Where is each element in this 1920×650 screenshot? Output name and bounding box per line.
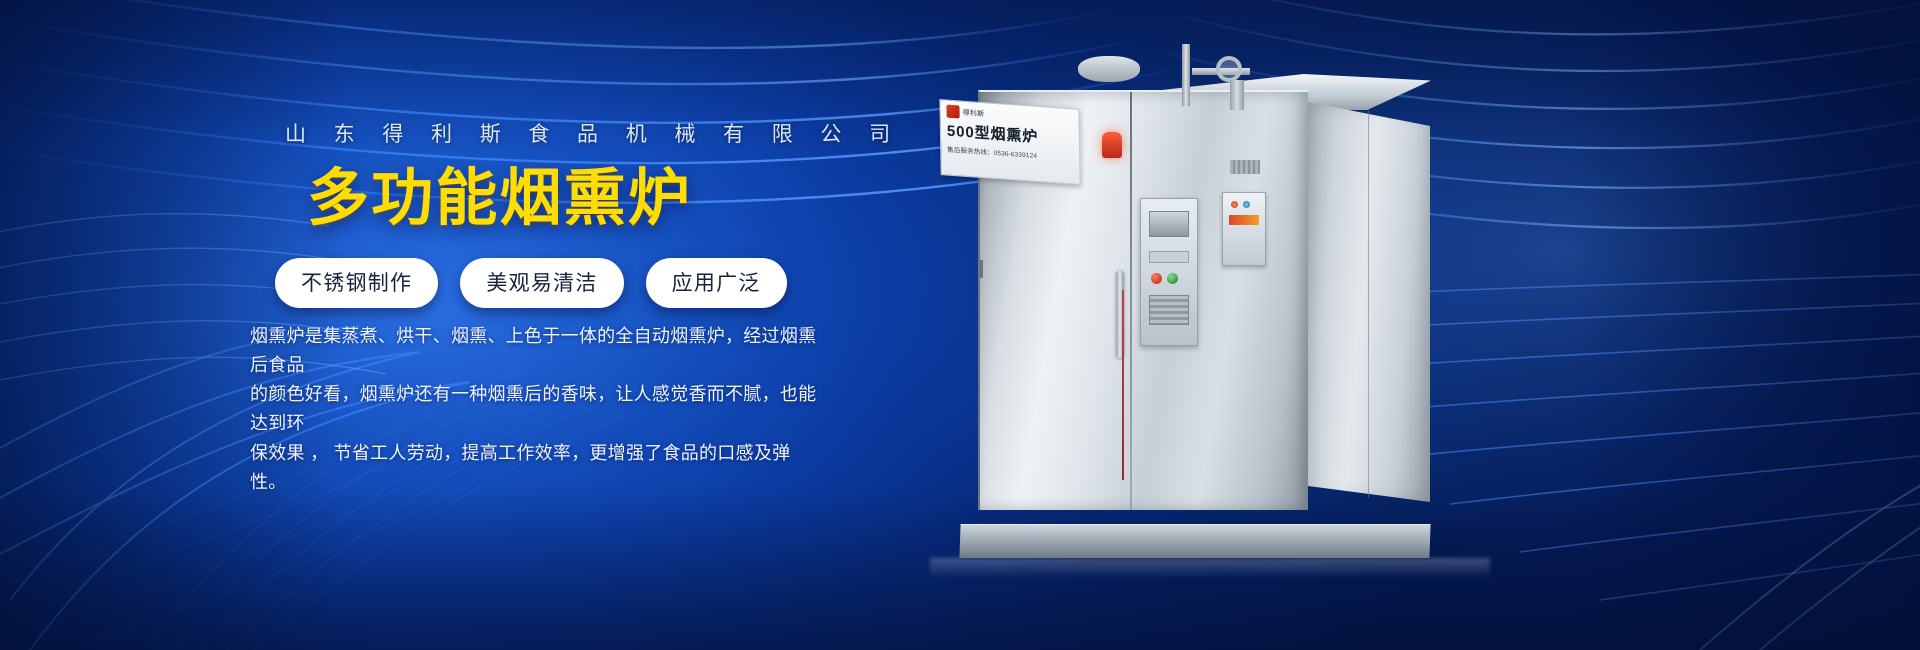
banner-content: 山 东 得 利 斯 食 品 机 械 有 限 公 司 多功能烟熏炉 不锈钢制作 美… (245, 0, 865, 650)
machine-chimney (1078, 56, 1140, 82)
feature-pill-group: 不锈钢制作 美观易清洁 应用广泛 (275, 258, 787, 308)
machine-side-wall (1308, 102, 1430, 502)
control-button-green (1167, 273, 1178, 284)
description-line-1: 烟熏炉是集蒸煮、烘干、烟熏、上色于一体的全自动烟熏炉，经过烟熏后食品 (250, 322, 825, 380)
machine-side-seam (1368, 110, 1369, 498)
panel-led-red (1231, 201, 1238, 208)
panel-warning-sticker (1229, 215, 1259, 225)
brand-name-text: 得利斯 (962, 107, 984, 119)
machine-nameplate: 得利斯 500型烟熏炉 售后服务热线：0536-6339124 (939, 99, 1080, 185)
description-line-2: 的颜色好看，烟熏炉还有一种烟熏后的香味，让人感觉香而不腻，也能达到环 (250, 380, 825, 438)
machine-vent (1230, 160, 1260, 174)
machine-secondary-panel (1222, 192, 1266, 266)
control-button-red (1151, 273, 1162, 284)
feature-pill-stainless[interactable]: 不锈钢制作 (275, 258, 438, 308)
product-photo: 得利斯 500型烟熏炉 售后服务热线：0536-6339124 (930, 40, 1490, 560)
product-description: 烟熏炉是集蒸煮、烘干、烟熏、上色于一体的全自动烟熏炉，经过烟熏后食品 的颜色好看… (250, 322, 825, 497)
machine-valve-wheel (1216, 56, 1242, 82)
machine-door-hinge (980, 260, 983, 278)
machine-pipe-vertical (1182, 44, 1190, 106)
machine-control-panel (1140, 198, 1198, 346)
company-name: 山 东 得 利 斯 食 品 机 械 有 限 公 司 (285, 118, 901, 148)
description-line-3: 保效果 ， 节省工人劳动，提高工作效率，更增强了食品的口感及弹性。 (250, 439, 825, 497)
control-strip (1149, 251, 1189, 263)
control-grill (1149, 295, 1189, 325)
machine-base (959, 524, 1430, 558)
page-title: 多功能烟熏炉 (307, 166, 692, 231)
brand-logo-icon (946, 105, 959, 119)
machine-alarm-lamp (1102, 132, 1122, 158)
machine-valve-body (1230, 80, 1244, 110)
machine-door-rod (1122, 290, 1124, 480)
panel-led-blue (1243, 201, 1250, 208)
machine-door-seam (1130, 92, 1132, 510)
control-display (1149, 211, 1189, 237)
feature-pill-easy-clean[interactable]: 美观易清洁 (460, 258, 623, 308)
floor-reflection (930, 558, 1490, 578)
feature-pill-wide-use[interactable]: 应用广泛 (646, 258, 787, 308)
product-banner: 得利斯 500型烟熏炉 售后服务热线：0536-6339124 山 东 得 利 … (0, 0, 1920, 650)
